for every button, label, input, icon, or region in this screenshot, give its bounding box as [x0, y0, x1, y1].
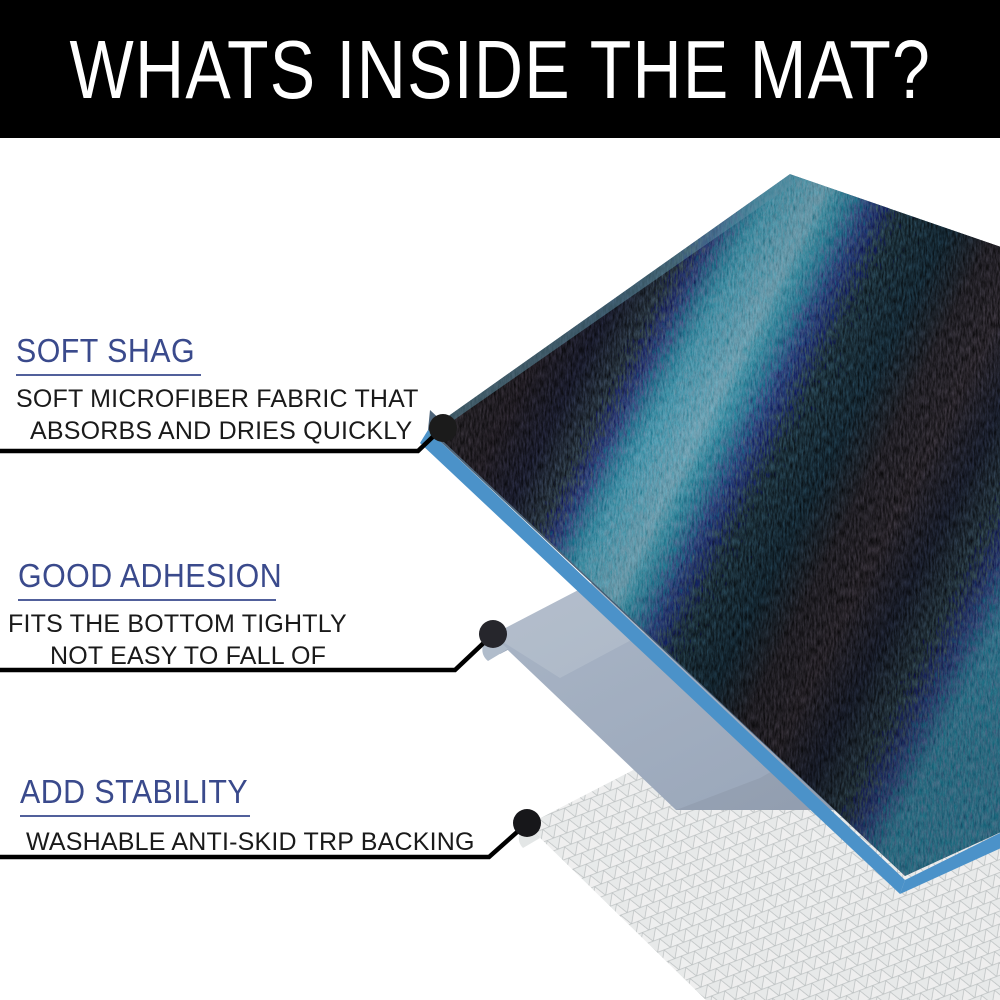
- infographic-page: WHATS INSIDE THE MAT?: [0, 0, 1000, 1000]
- callout-body-soft-shag: SOFT MICROFIBER FABRIC THAT ABSORBS AND …: [16, 383, 419, 447]
- header-banner: WHATS INSIDE THE MAT?: [0, 0, 1000, 138]
- callout-body-line: FITS THE BOTTOM TIGHTLY: [8, 608, 347, 640]
- callout-underline-add-stability: [20, 815, 250, 817]
- callout-heading-add-stability: ADD STABILITY: [20, 775, 438, 810]
- tpr-backing-marker[interactable]: [513, 809, 541, 837]
- callout-good-adhesion: GOOD ADHESION FITS THE BOTTOM TIGHTLY NO…: [18, 559, 347, 672]
- callout-body-line: ABSORBS AND DRIES QUICKLY: [30, 415, 419, 447]
- callout-heading-good-adhesion: GOOD ADHESION: [18, 559, 321, 594]
- callout-body-line: SOFT MICROFIBER FABRIC THAT: [16, 383, 419, 415]
- foam-layer-marker[interactable]: [479, 620, 507, 648]
- page-title: WHATS INSIDE THE MAT?: [69, 28, 931, 111]
- callout-underline-soft-shag: [16, 374, 201, 376]
- callout-underline-good-adhesion: [18, 599, 276, 601]
- callout-body-add-stability: WASHABLE ANTI-SKID TRP BACKING: [26, 826, 475, 858]
- callout-soft-shag: SOFT SHAG SOFT MICROFIBER FABRIC THAT AB…: [16, 334, 419, 447]
- callout-heading-soft-shag: SOFT SHAG: [16, 334, 386, 369]
- callout-body-line: NOT EASY TO FALL OF: [50, 640, 347, 672]
- callout-add-stability: ADD STABILITY WASHABLE ANTI-SKID TRP BAC…: [20, 775, 475, 858]
- shag-layer-marker[interactable]: [429, 414, 457, 442]
- callout-body-good-adhesion: FITS THE BOTTOM TIGHTLY NOT EASY TO FALL…: [8, 608, 347, 672]
- illustration-stage: SOFT SHAG SOFT MICROFIBER FABRIC THAT AB…: [0, 138, 1000, 1000]
- callout-body-line: WASHABLE ANTI-SKID TRP BACKING: [26, 826, 475, 858]
